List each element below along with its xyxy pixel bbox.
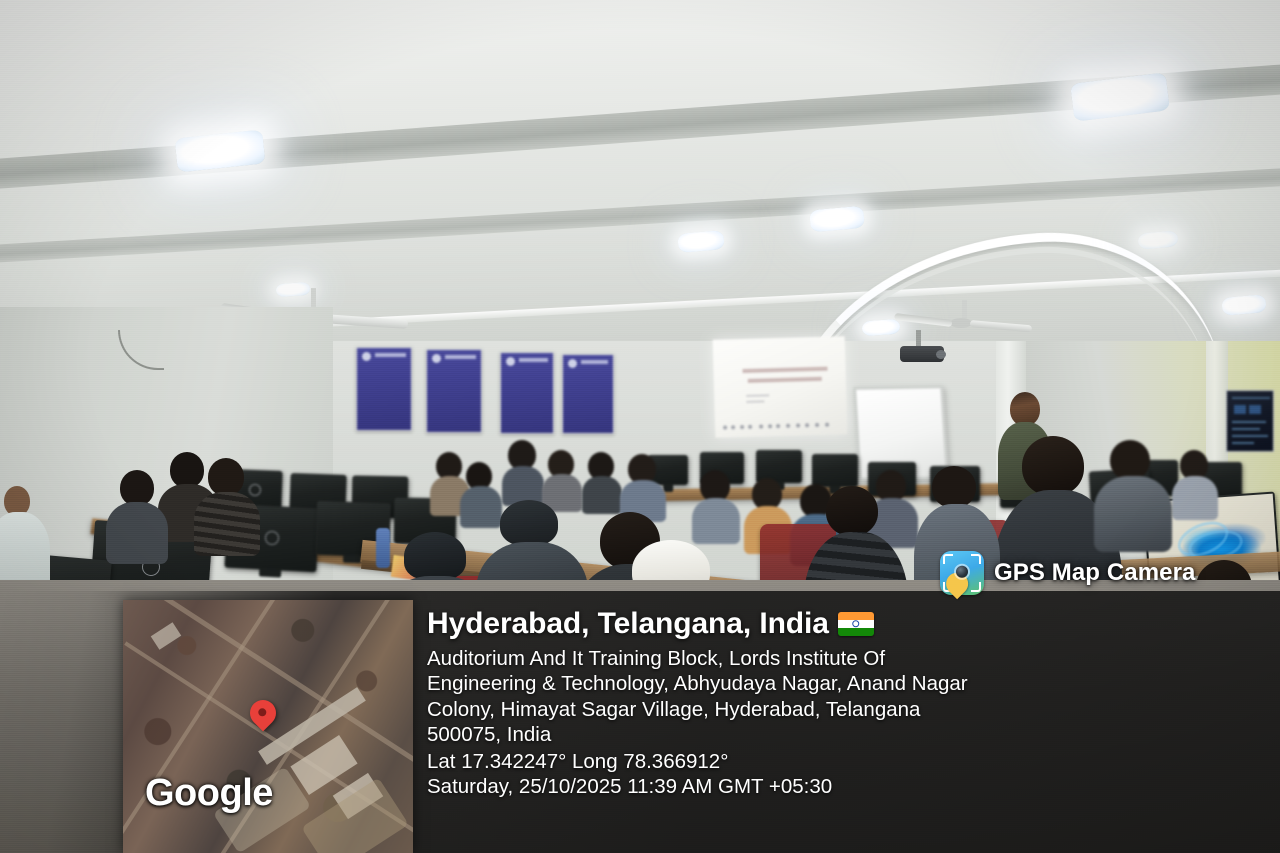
gps-map-camera-icon [940,551,984,595]
cap-head [404,532,466,580]
address-line: 500075, India [427,722,1087,748]
map-building [151,622,182,650]
wall-poster [562,354,614,434]
gps-map-camera-photo: GPS Map Camera Hyderabad, Telangana, Ind… [0,0,1280,853]
monitor [812,454,858,487]
ceiling-fan-hub [950,318,972,328]
wall-poster-dark [1226,390,1274,452]
corner-bracket-icon [971,554,981,564]
corner-bracket-icon [971,582,981,592]
gps-map-camera-label: GPS Map Camera [994,559,1195,587]
corner-bracket-icon [943,554,953,564]
gps-map-camera-watermark: GPS Map Camera [940,551,1195,595]
wall-poster [426,349,482,433]
projector-screen [713,336,848,438]
map-thumbnail[interactable]: Google [123,600,413,853]
coordinates: Lat 17.342247° Long 78.366912° [427,749,1270,775]
address-line: Colony, Himayat Sagar Village, Hyderabad… [427,697,1087,723]
location-title-row: Hyderabad, Telangana, India [427,608,1270,640]
location-title: Hyderabad, Telangana, India [427,608,829,640]
timestamp: Saturday, 25/10/2025 11:39 AM GMT +05:30 [427,774,1270,800]
projector-lens [936,350,946,359]
ceiling-fan-rod [962,300,967,320]
address-line: Engineering & Technology, Abhyudaya Naga… [427,671,1087,697]
presenter-head [1010,392,1040,426]
ashoka-chakra-icon [852,620,860,628]
water-bottle [376,528,390,568]
google-watermark: Google [145,772,273,815]
camera-lens-icon [956,566,968,578]
wall-poster [356,347,412,431]
cap-head [500,500,558,546]
india-flag-icon [838,612,874,636]
address-block: Auditorium And It Training Block, Lords … [427,646,1087,748]
address-line: Auditorium And It Training Block, Lords … [427,646,1087,672]
wall-poster [500,352,554,434]
